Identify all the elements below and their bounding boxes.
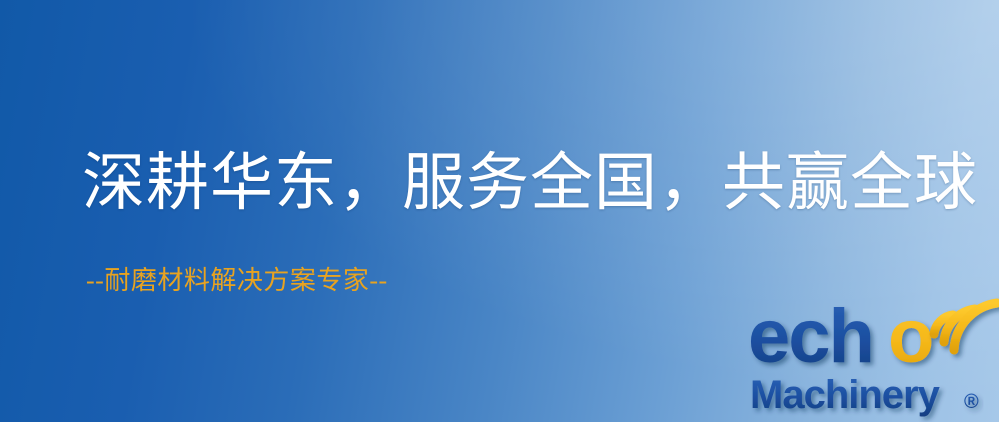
page-subtitle: --耐磨材料解决方案专家--	[86, 268, 388, 294]
logo-wordmark-echo: ech	[748, 296, 873, 379]
logo-registered-mark: ®	[964, 391, 979, 413]
echo-waves-icon	[934, 303, 997, 350]
company-logo[interactable]: ech o Machinery ®	[748, 296, 999, 422]
page-title: 深耕华东，服务全国，共赢全球	[82, 152, 978, 215]
logo-wordmark-accent-o: o	[888, 296, 932, 379]
hero-banner: 深耕华东，服务全国，共赢全球 --耐磨材料解决方案专家--	[0, 0, 999, 422]
logo-tagline: Machinery	[750, 373, 941, 417]
